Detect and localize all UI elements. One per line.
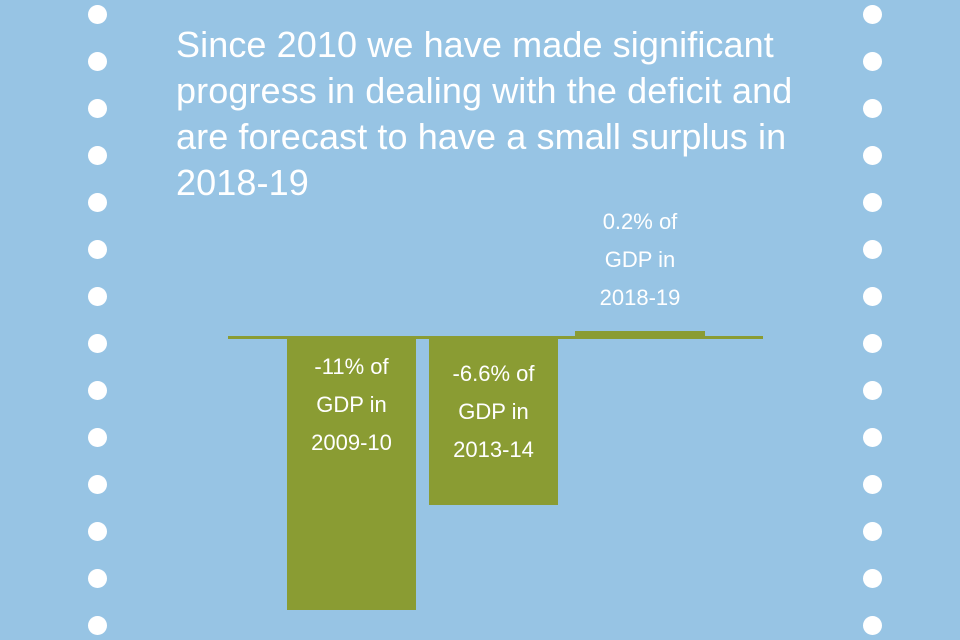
- infographic-poster: Since 2010 we have made significant prog…: [0, 0, 960, 640]
- bar-2018-19: [575, 331, 705, 337]
- bar-label-2013-14: -6.6% of GDP in 2013-14: [429, 355, 558, 469]
- bar-label-2009-10: -11% of GDP in 2009-10: [287, 348, 416, 462]
- bar-label-2018-19: 0.2% of GDP in 2018-19: [540, 203, 740, 317]
- deficit-bar-chart: -11% of GDP in 2009-10 -6.6% of GDP in 2…: [0, 0, 960, 640]
